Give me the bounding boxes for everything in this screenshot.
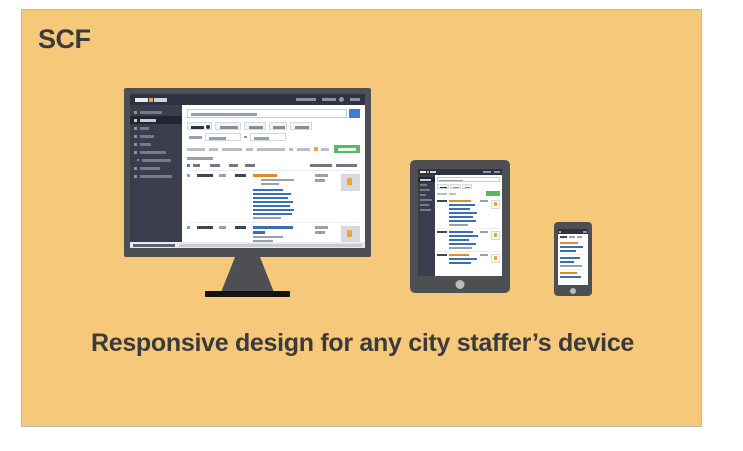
- row-id-cell: [437, 200, 449, 226]
- gear-icon[interactable]: [339, 97, 344, 102]
- row-body-line: [449, 212, 477, 214]
- filter-tab-2[interactable]: [450, 184, 461, 189]
- row-body-line: [253, 205, 290, 207]
- sidebar-item-label: [420, 209, 431, 211]
- filter-selects: [187, 133, 360, 141]
- row-id: [197, 174, 213, 177]
- sidebar-item-label: [140, 135, 154, 138]
- row-body-line: [253, 213, 292, 215]
- filter-tab-3[interactable]: [462, 184, 472, 189]
- row-id: [437, 254, 447, 256]
- sidebar-item-6[interactable]: [130, 148, 182, 156]
- monitor-bezel: [124, 88, 371, 257]
- row-detail-cell: [253, 174, 310, 219]
- logo-text-right: [154, 98, 167, 102]
- table-row[interactable]: [187, 222, 360, 242]
- tablet-bezel: [410, 160, 510, 293]
- sidebar-item-1[interactable]: [130, 108, 182, 116]
- sidebar-item-label: [420, 204, 429, 206]
- row-body-line: [253, 197, 288, 199]
- filter-tab-label: [295, 126, 309, 129]
- row-time: [315, 179, 325, 182]
- item-body-line: [560, 276, 581, 278]
- checkbox-icon[interactable]: [187, 226, 190, 229]
- sidebar-item-8[interactable]: [130, 164, 182, 172]
- sidebar-item-label: [140, 111, 162, 114]
- top-nav-item-1[interactable]: [296, 98, 316, 101]
- app-body: [418, 175, 502, 276]
- sidebar-item-7[interactable]: [418, 207, 435, 212]
- mobile-filter-bar[interactable]: [560, 236, 586, 238]
- new-request-button[interactable]: [334, 145, 360, 153]
- row-detail-cell: [449, 200, 478, 226]
- tablet-screen: [418, 169, 502, 276]
- sidebar-item-label: [420, 194, 426, 196]
- sort-control[interactable]: [321, 148, 329, 151]
- filter-tab-1[interactable]: [187, 122, 212, 130]
- row-thumbnail[interactable]: [341, 174, 360, 191]
- slide-caption: Responsive design for any city staffer’s…: [22, 329, 702, 358]
- list-item[interactable]: [560, 254, 586, 269]
- list-item[interactable]: [560, 240, 586, 254]
- monitor-stand-neck: [222, 257, 274, 291]
- item-body-line: [560, 246, 583, 248]
- sidebar-item-label: [420, 179, 431, 181]
- filter-tab-5[interactable]: [290, 122, 312, 130]
- row-id-cell: [437, 254, 449, 264]
- thumbnail-highlight: [494, 233, 497, 237]
- table-col-7[interactable]: [336, 164, 357, 167]
- phone-screen: [558, 229, 588, 285]
- row-checkbox-cell[interactable]: [187, 226, 197, 242]
- filter-tab-4[interactable]: [269, 122, 287, 130]
- logo-text-left: [420, 171, 426, 173]
- top-nav-item-2[interactable]: [494, 171, 500, 173]
- table-col-6[interactable]: [310, 164, 332, 167]
- thumbnail-highlight: [347, 230, 352, 237]
- bulk-action-1[interactable]: [187, 148, 205, 151]
- row-date-cell: [480, 200, 489, 226]
- search-submit-button[interactable]: [349, 109, 360, 118]
- top-nav-item-1[interactable]: [483, 171, 491, 173]
- row-body-line: [449, 258, 477, 260]
- row-thumbnail[interactable]: [491, 200, 500, 209]
- search-bar: [187, 109, 360, 118]
- select-1-label: [187, 133, 205, 141]
- bulk-action-5[interactable]: [257, 148, 285, 151]
- search-placeholder-text: [191, 113, 257, 116]
- sidebar-item-2[interactable]: [130, 116, 182, 124]
- row-date-cell: [315, 174, 337, 219]
- row-id-cell: [197, 226, 219, 242]
- sidebar-item-label: [140, 143, 151, 146]
- tags-icon: [134, 143, 137, 146]
- logo-text-right: [430, 171, 436, 173]
- app-topbar: [130, 94, 365, 105]
- thumbnail-highlight: [494, 256, 497, 260]
- sidebar-item-label: [140, 175, 172, 178]
- app-sidebar: [130, 105, 182, 242]
- sidebar-item-label: [142, 159, 171, 162]
- bulk-action-7[interactable]: [297, 148, 310, 151]
- sidebar-item-label: [420, 199, 432, 201]
- row-body-line: [449, 208, 470, 210]
- logo-mark: [149, 98, 153, 102]
- row-body-line: [449, 235, 478, 237]
- row-body-line: [449, 216, 473, 218]
- search-input[interactable]: [187, 109, 347, 118]
- sidebar-item-7[interactable]: [130, 156, 182, 164]
- item-body-line: [560, 250, 576, 252]
- table-row[interactable]: [437, 198, 500, 228]
- bulk-action-4[interactable]: [246, 148, 253, 151]
- row-detail-line: [261, 179, 294, 181]
- select-2[interactable]: [250, 133, 286, 141]
- sidebar-item-label: [420, 189, 430, 191]
- row-status-cell: [219, 226, 235, 242]
- row-type: [235, 174, 246, 177]
- filter-tab-label: [453, 187, 459, 189]
- item-body-line: [560, 265, 582, 267]
- action-bar: [187, 145, 360, 153]
- table-col-5[interactable]: [245, 164, 255, 167]
- status-bar-text: [133, 244, 175, 247]
- new-request-label: [338, 148, 356, 151]
- monitor-screen: [130, 94, 365, 248]
- users-icon: [134, 151, 137, 154]
- row-status: [219, 226, 226, 229]
- checkbox-icon[interactable]: [187, 174, 190, 177]
- item-title[interactable]: [560, 257, 580, 259]
- row-title-link[interactable]: [253, 226, 293, 229]
- row-body-line: [449, 247, 472, 249]
- monitor-stand-base: [205, 291, 290, 297]
- filter-tab-label: [220, 126, 238, 129]
- row-detail-cell: [449, 254, 478, 264]
- row-title-link[interactable]: [449, 231, 473, 233]
- table-col-1[interactable]: [187, 164, 190, 167]
- row-body-line: [449, 224, 468, 226]
- table-row[interactable]: [187, 170, 360, 222]
- bulk-action-2[interactable]: [449, 193, 456, 195]
- requests-icon: [134, 119, 137, 122]
- phone-bezel: [554, 222, 592, 296]
- bulk-action-2[interactable]: [209, 148, 218, 151]
- row-time: [315, 231, 325, 234]
- filter-tab-label: [273, 126, 285, 129]
- row-detail-cell: [253, 226, 310, 242]
- hamburger-menu-icon[interactable]: [583, 231, 587, 233]
- row-body-line: [449, 204, 475, 206]
- row-body-line: [253, 217, 281, 219]
- filter-tab-label: [440, 187, 447, 189]
- row-id: [437, 200, 447, 202]
- new-request-button[interactable]: [486, 191, 500, 196]
- row-id: [197, 226, 213, 229]
- bulk-action-3[interactable]: [222, 148, 242, 151]
- settings-icon: [134, 167, 137, 170]
- filter-tab-3[interactable]: [244, 122, 266, 130]
- filter-tab-label: [249, 126, 263, 129]
- filter-tabs: [437, 184, 500, 189]
- sidebar-item-label: [140, 151, 166, 154]
- row-body-line: [253, 193, 291, 195]
- table-row[interactable]: [437, 251, 500, 266]
- row-id-cell: [437, 231, 449, 249]
- row-status: [219, 174, 226, 177]
- row-id-cell: [197, 174, 219, 219]
- row-status-cell: [219, 174, 235, 219]
- search-input[interactable]: [437, 177, 500, 182]
- page-title: SCF: [38, 26, 91, 53]
- logo-text-left: [135, 98, 148, 102]
- select-1-value: [209, 137, 226, 140]
- app-body: [130, 105, 365, 242]
- row-thumbnail[interactable]: [491, 254, 500, 263]
- row-detail-line: [253, 236, 283, 238]
- row-type: [235, 226, 246, 229]
- row-id: [437, 231, 447, 233]
- tablet-home-button[interactable]: [456, 280, 465, 289]
- select-2-value: [254, 137, 269, 140]
- row-body-line: [253, 201, 293, 203]
- select-1-text: [189, 136, 202, 139]
- row-detail-line: [261, 183, 279, 185]
- sidebar-item-label: [140, 167, 160, 170]
- bulk-action-1[interactable]: [437, 193, 447, 195]
- filter-tab-label: [191, 126, 204, 129]
- row-date: [315, 174, 328, 177]
- row-date: [480, 254, 488, 256]
- item-body-line: [560, 261, 574, 263]
- archive-icon: [134, 175, 137, 178]
- row-body-line: [253, 189, 283, 191]
- row-thumbnail[interactable]: [341, 226, 360, 242]
- sidebar-item-label: [140, 119, 156, 122]
- list-item[interactable]: [560, 269, 586, 280]
- reports-icon: [134, 135, 137, 138]
- mobile-filter-1[interactable]: [560, 236, 567, 238]
- sub-item-icon: [137, 159, 139, 161]
- sidebar-item-5[interactable]: [130, 140, 182, 148]
- logo-mark: [559, 231, 561, 233]
- table-col-2[interactable]: [193, 164, 200, 167]
- search-placeholder-text: [439, 180, 463, 182]
- row-date-cell: [315, 226, 337, 242]
- filter-tab-2[interactable]: [215, 122, 241, 130]
- phone-home-button[interactable]: [570, 288, 576, 294]
- row-title-link[interactable]: [449, 200, 471, 202]
- seeclickfix-logo[interactable]: [420, 171, 436, 173]
- row-thumbnail[interactable]: [491, 231, 500, 240]
- sidebar-item-3[interactable]: [130, 124, 182, 132]
- row-date: [315, 226, 328, 229]
- mobile-filter-2[interactable]: [569, 236, 575, 238]
- logo-mark: [427, 171, 429, 173]
- browser-status-bar: [130, 242, 365, 248]
- map-icon: [134, 127, 137, 130]
- slide-canvas: SCF: [21, 9, 702, 427]
- tablet: [410, 160, 510, 293]
- row-body-line: [449, 220, 476, 222]
- search-bar: [437, 177, 500, 182]
- filter-tabs: [187, 122, 360, 130]
- chevron-down-icon: [244, 136, 247, 138]
- dashboard-icon: [134, 111, 137, 114]
- top-nav-item-2[interactable]: [322, 98, 336, 101]
- phone: [554, 222, 592, 296]
- sidebar-item-9[interactable]: [130, 172, 182, 180]
- table-col-3[interactable]: [210, 164, 220, 167]
- action-bar: [437, 191, 500, 196]
- row-date-cell: [480, 231, 489, 249]
- app-sidebar: [418, 175, 435, 276]
- row-body-line: [449, 239, 469, 241]
- app-main: [182, 105, 365, 242]
- filter-tab-badge: [206, 125, 210, 129]
- sidebar-item-label: [140, 127, 149, 130]
- row-date: [480, 231, 488, 233]
- table-row[interactable]: [437, 228, 500, 251]
- app-main: [435, 175, 502, 276]
- row-detail-cell: [449, 231, 478, 249]
- sidebar-item-4[interactable]: [130, 132, 182, 140]
- row-body-line: [449, 243, 476, 245]
- row-title-link[interactable]: [253, 231, 265, 234]
- row-type-cell: [235, 174, 253, 219]
- filter-tab-label: [465, 187, 470, 189]
- result-count: [187, 157, 213, 160]
- select-1[interactable]: [205, 133, 241, 141]
- row-type-cell: [235, 226, 253, 242]
- filter-tab-1[interactable]: [437, 184, 449, 189]
- thumbnail-highlight: [494, 202, 497, 206]
- row-title-link[interactable]: [449, 254, 469, 256]
- app-main: [558, 234, 588, 285]
- row-body-line: [449, 262, 471, 264]
- horizontal-scrollbar[interactable]: [179, 244, 362, 247]
- star-icon[interactable]: [314, 147, 318, 151]
- thumbnail-highlight: [347, 178, 352, 185]
- seeclickfix-logo[interactable]: [135, 98, 167, 102]
- item-title[interactable]: [560, 272, 577, 274]
- sidebar-item-label: [420, 184, 427, 186]
- table-col-4[interactable]: [229, 164, 238, 167]
- mobile-filter-3[interactable]: [577, 236, 582, 238]
- top-nav-item-3[interactable]: [350, 98, 360, 101]
- bulk-action-6[interactable]: [289, 148, 293, 151]
- row-body-line: [253, 209, 294, 211]
- desktop-monitor: [124, 88, 371, 297]
- row-date: [480, 200, 488, 202]
- item-title[interactable]: [560, 242, 578, 244]
- row-title-link[interactable]: [253, 174, 277, 177]
- top-nav: [480, 171, 500, 173]
- seeclickfix-logo[interactable]: [559, 231, 561, 233]
- top-nav: [583, 231, 587, 233]
- top-nav: [290, 97, 360, 102]
- row-date-cell: [480, 254, 489, 264]
- row-checkbox-cell[interactable]: [187, 174, 197, 219]
